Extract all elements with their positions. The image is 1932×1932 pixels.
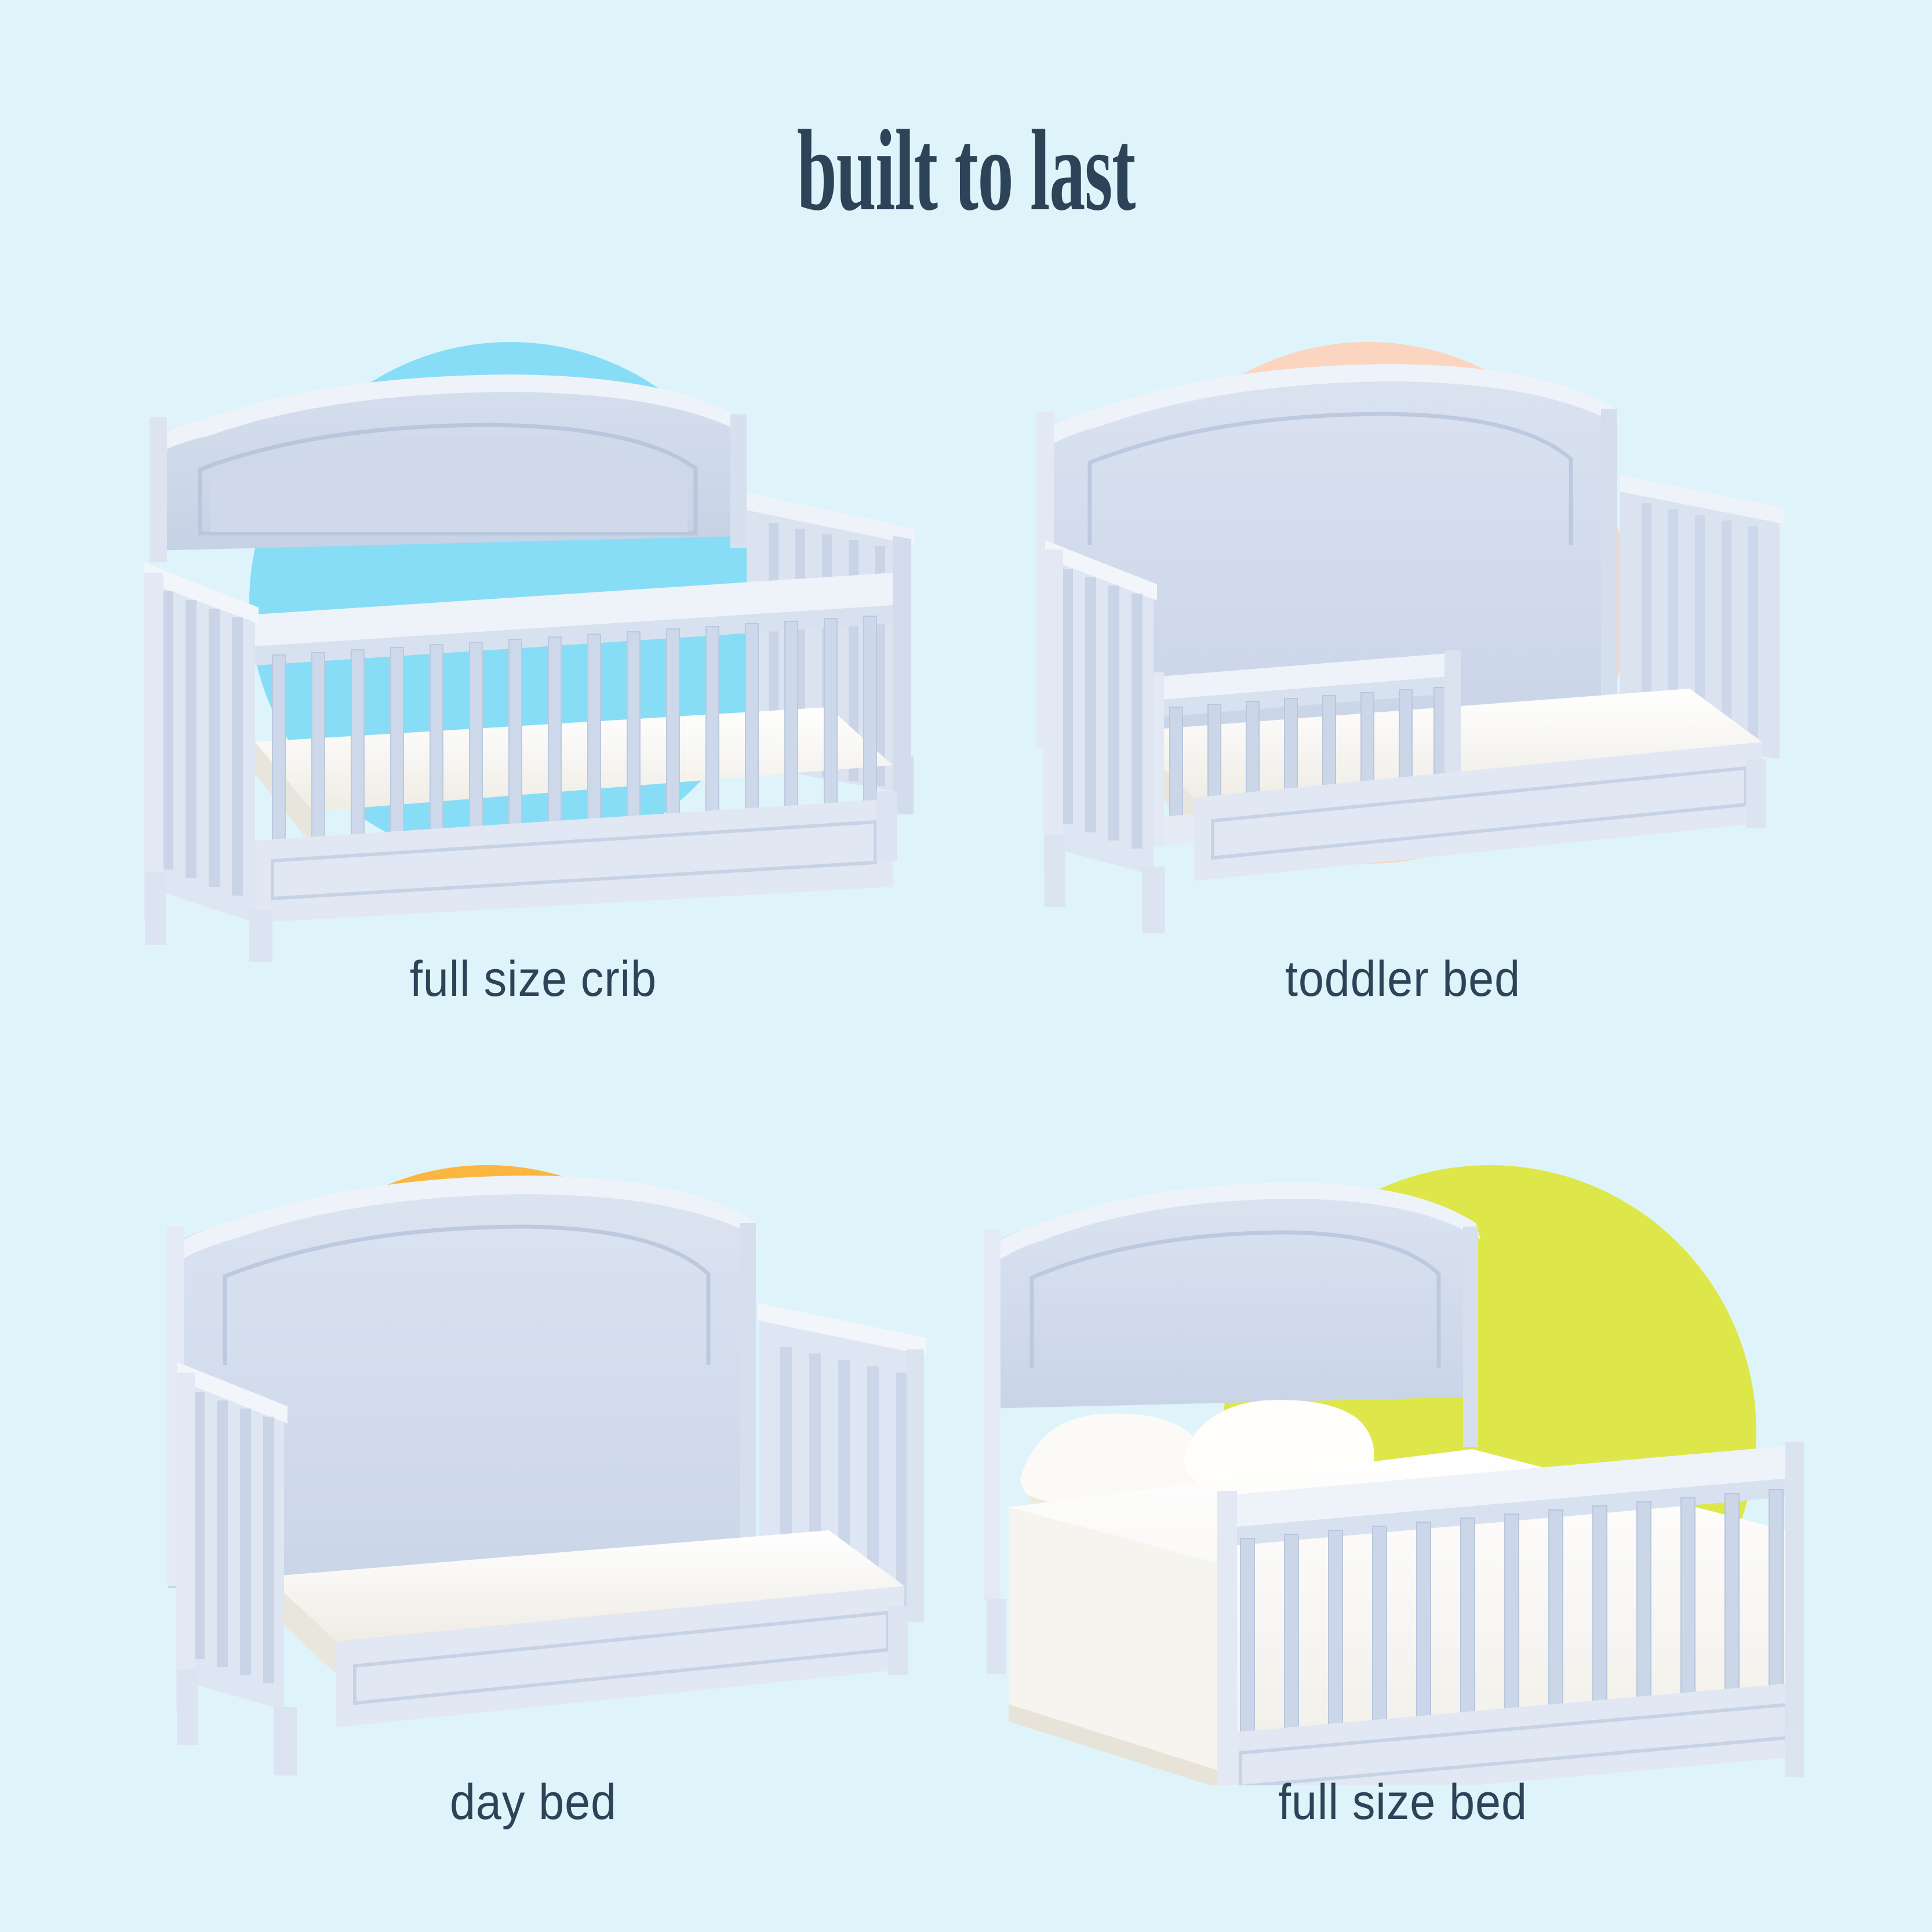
infographic-page: built to last: [0, 0, 1932, 1932]
product-label: day bed: [117, 1774, 949, 1831]
product-cell-full-size-bed[interactable]: full size bed: [951, 1125, 1855, 1872]
side-rail-left: [176, 1362, 288, 1710]
crib-illustration: [81, 301, 985, 962]
product-cell-day-bed[interactable]: day bed: [81, 1125, 985, 1872]
side-rail-left: [1043, 540, 1157, 875]
product-cell-full-size-crib[interactable]: full size crib: [81, 301, 985, 1049]
product-label: full size bed: [987, 1774, 1818, 1831]
side-rail-left: [144, 562, 259, 923]
product-grid: full size crib: [0, 301, 1932, 1924]
headboard: [150, 374, 747, 562]
product-label: full size crib: [117, 951, 949, 1008]
page-title: built to last: [367, 110, 1564, 232]
toddler-bed-illustration: [951, 301, 1855, 962]
full-size-bed-illustration: [951, 1125, 1855, 1785]
day-bed-illustration: [81, 1125, 985, 1785]
product-cell-toddler-bed[interactable]: toddler bed: [951, 301, 1855, 1049]
product-label: toddler bed: [987, 951, 1818, 1008]
